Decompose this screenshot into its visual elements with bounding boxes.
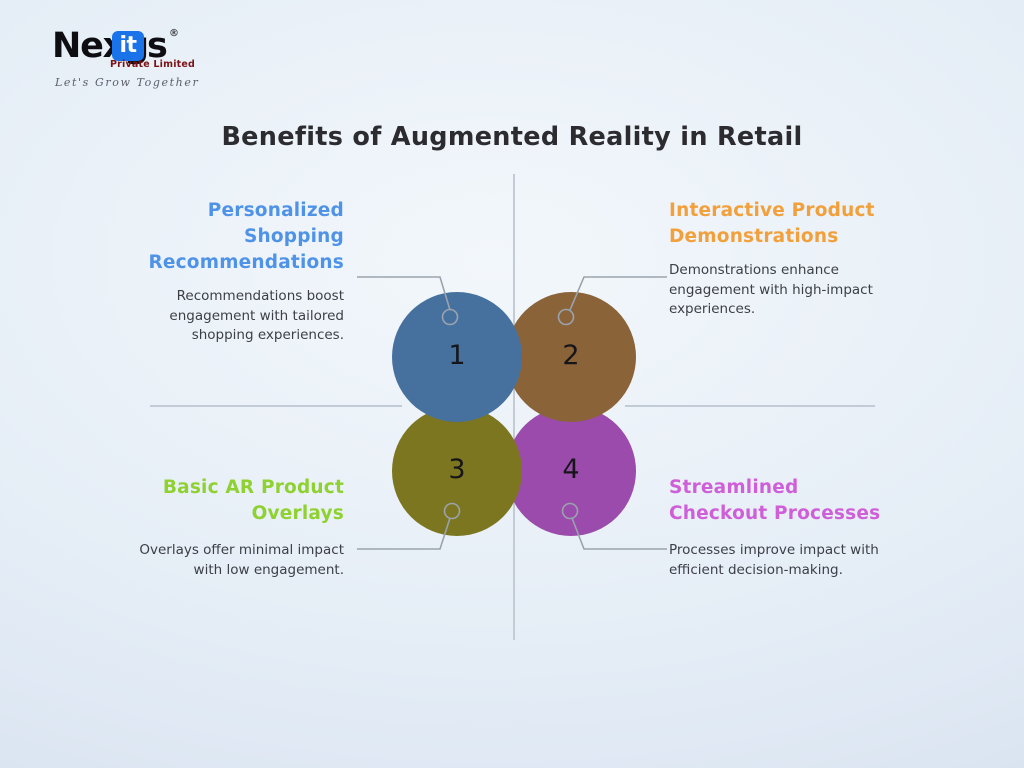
connector-line-2 <box>570 277 667 310</box>
connector-endpoint-4 <box>563 504 578 519</box>
connector-lines <box>0 0 1024 768</box>
connector-line-3 <box>357 518 450 549</box>
connector-endpoint-2 <box>559 310 574 325</box>
connector-endpoint-1 <box>443 310 458 325</box>
connector-line-4 <box>572 518 667 549</box>
connector-endpoint-3 <box>445 504 460 519</box>
connector-line-1 <box>357 277 450 310</box>
infographic-canvas: Nexg it s ® Private Limited Let's Grow T… <box>0 0 1024 768</box>
